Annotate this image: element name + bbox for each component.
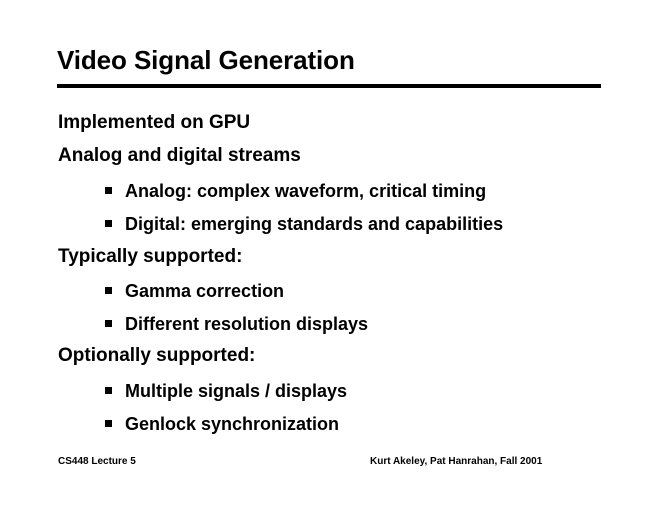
footer-authors-label: Kurt Akeley, Pat Hanrahan, Fall 2001 xyxy=(370,456,580,467)
bullet-item-level-2: Different resolution displays xyxy=(105,314,368,335)
bullet-item-level-2: Analog: complex waveform, critical timin… xyxy=(105,181,486,202)
square-bullet-icon xyxy=(105,287,112,294)
bullet-item-level-1: Analog and digital streams xyxy=(58,145,301,167)
bullet-item-level-1: Optionally supported: xyxy=(58,345,255,367)
bullet-label: Digital: emerging standards and capabili… xyxy=(125,214,503,235)
bullet-item-level-1: Implemented on GPU xyxy=(58,112,250,134)
square-bullet-icon xyxy=(105,420,112,427)
page-title: Video Signal Generation xyxy=(57,44,355,76)
square-bullet-icon xyxy=(105,187,112,194)
bullet-item-level-2: Gamma correction xyxy=(105,281,284,302)
bullet-label: Different resolution displays xyxy=(125,314,368,335)
square-bullet-icon xyxy=(105,320,112,327)
bullet-item-level-2: Genlock synchronization xyxy=(105,414,339,435)
bullet-label: Gamma correction xyxy=(125,281,284,302)
bullet-label: Genlock synchronization xyxy=(125,414,339,435)
square-bullet-icon xyxy=(105,220,112,227)
bullet-label: Analog and digital streams xyxy=(58,145,301,167)
bullet-label: Implemented on GPU xyxy=(58,112,250,134)
bullet-item-level-2: Digital: emerging standards and capabili… xyxy=(105,214,503,235)
title-divider xyxy=(57,84,601,88)
bullet-label: Analog: complex waveform, critical timin… xyxy=(125,181,486,202)
footer-course-label: CS448 Lecture 5 xyxy=(58,456,136,467)
bullet-item-level-1: Typically supported: xyxy=(58,246,242,268)
bullet-item-level-2: Multiple signals / displays xyxy=(105,381,347,402)
slide-canvas: Video Signal Generation Implemented on G… xyxy=(0,0,660,510)
bullet-label: Typically supported: xyxy=(58,246,242,268)
bullet-label: Multiple signals / displays xyxy=(125,381,347,402)
bullet-label: Optionally supported: xyxy=(58,345,255,367)
square-bullet-icon xyxy=(105,387,112,394)
